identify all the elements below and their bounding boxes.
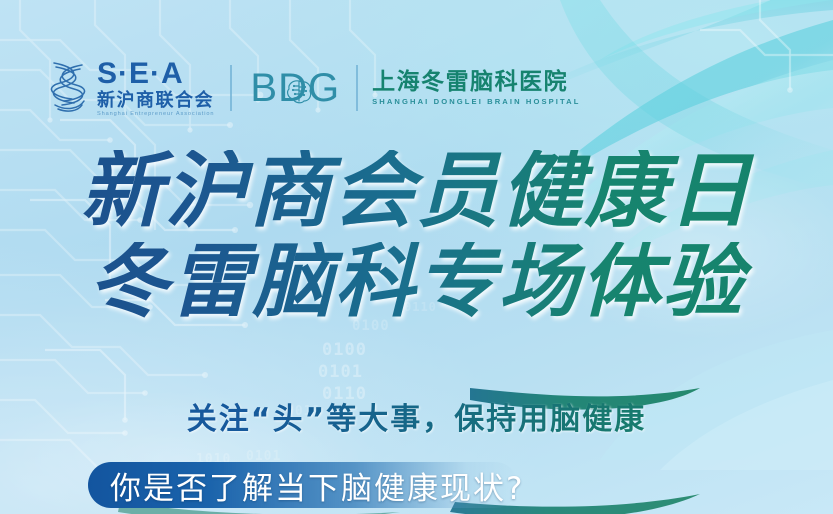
hospital-chinese-name: 上海冬雷脑科医院: [372, 70, 580, 93]
logo-bar: S·E·A 新沪商联合会 Shanghai Entrepreneur Assoc…: [46, 56, 581, 120]
brain-circuit-icon: [284, 72, 314, 102]
hospital-english-name: SHANGHAI DONGLEI BRAIN HOSPITAL: [372, 98, 580, 106]
bdg-logo: BDG: [250, 66, 340, 111]
sea-english-subtitle: Shanghai Entrepreneur Association: [97, 112, 214, 118]
logo-divider-2: [356, 65, 358, 111]
bottom-question-text: 你是否了解当下脑健康现状?: [110, 462, 524, 508]
sea-abbr: S·E·A: [97, 59, 214, 89]
sea-chinese-name: 新沪商联合会: [97, 91, 214, 109]
sea-dna-ribbon-mark-icon: [46, 59, 90, 117]
bottom-question-bar: 你是否了解当下脑健康现状?: [88, 462, 648, 508]
hospital-logo-text: 上海冬雷脑科医院 SHANGHAI DONGLEI BRAIN HOSPITAL: [372, 70, 580, 106]
subtitle-text: 关注“头”等大事，保持用脑健康: [0, 394, 833, 438]
poster-canvas: 0100 0101 0110 0100 0011 1010 0101 0110: [0, 0, 833, 514]
sea-logo-text: S·E·A 新沪商联合会 Shanghai Entrepreneur Assoc…: [97, 59, 214, 118]
calligraphy-swoosh-decoration: [0, 150, 833, 370]
logo-divider-1: [230, 65, 232, 111]
